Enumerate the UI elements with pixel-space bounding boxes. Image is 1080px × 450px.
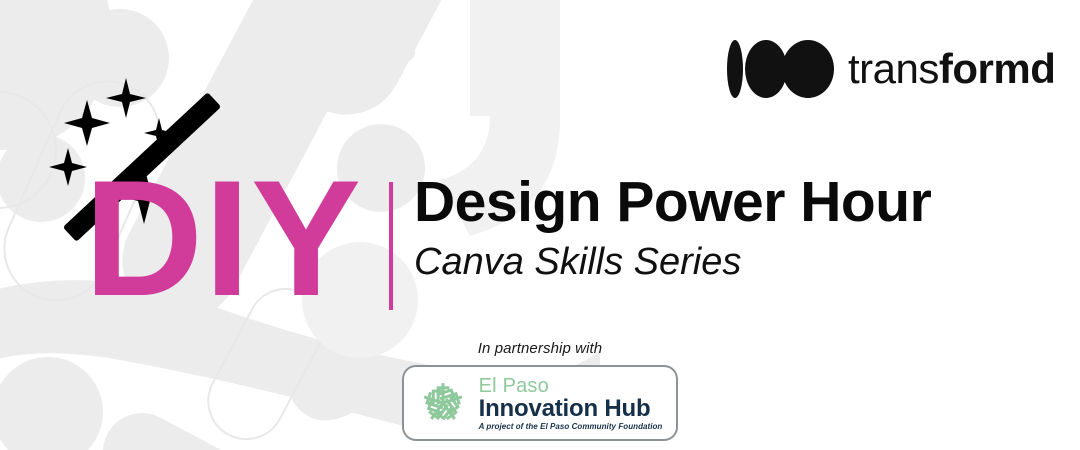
el-paso-logo-tagline: A project of the El Paso Community Found… [479, 423, 663, 431]
transformd-dots-mark [724, 38, 834, 100]
page-title: Design Power Hour [414, 172, 1054, 232]
transformd-wordmark: transformd [848, 48, 1055, 90]
el-paso-pinwheel-icon [416, 376, 470, 430]
title-block: Design Power Hour Canva Skills Series [414, 172, 1054, 284]
wordmark-bold-part: formd [939, 45, 1056, 92]
partnership-label: In partnership with [0, 340, 1080, 357]
diy-wordmark: DIY [84, 156, 362, 321]
transformd-logo: transformd [724, 33, 1055, 105]
el-paso-logo-line1: El Paso [479, 376, 663, 396]
partnership-block: In partnership with [0, 340, 1080, 441]
page-subtitle: Canva Skills Series [414, 242, 1054, 284]
title-divider [389, 182, 393, 310]
wordmark-light-part: trans [848, 45, 939, 92]
el-paso-innovation-hub-logo-card: El Paso Innovation Hub A project of the … [402, 365, 679, 441]
el-paso-logo-line2: Innovation Hub [479, 396, 663, 422]
event-banner: transformd DIY Design Power Hour Canva S… [0, 0, 1080, 450]
